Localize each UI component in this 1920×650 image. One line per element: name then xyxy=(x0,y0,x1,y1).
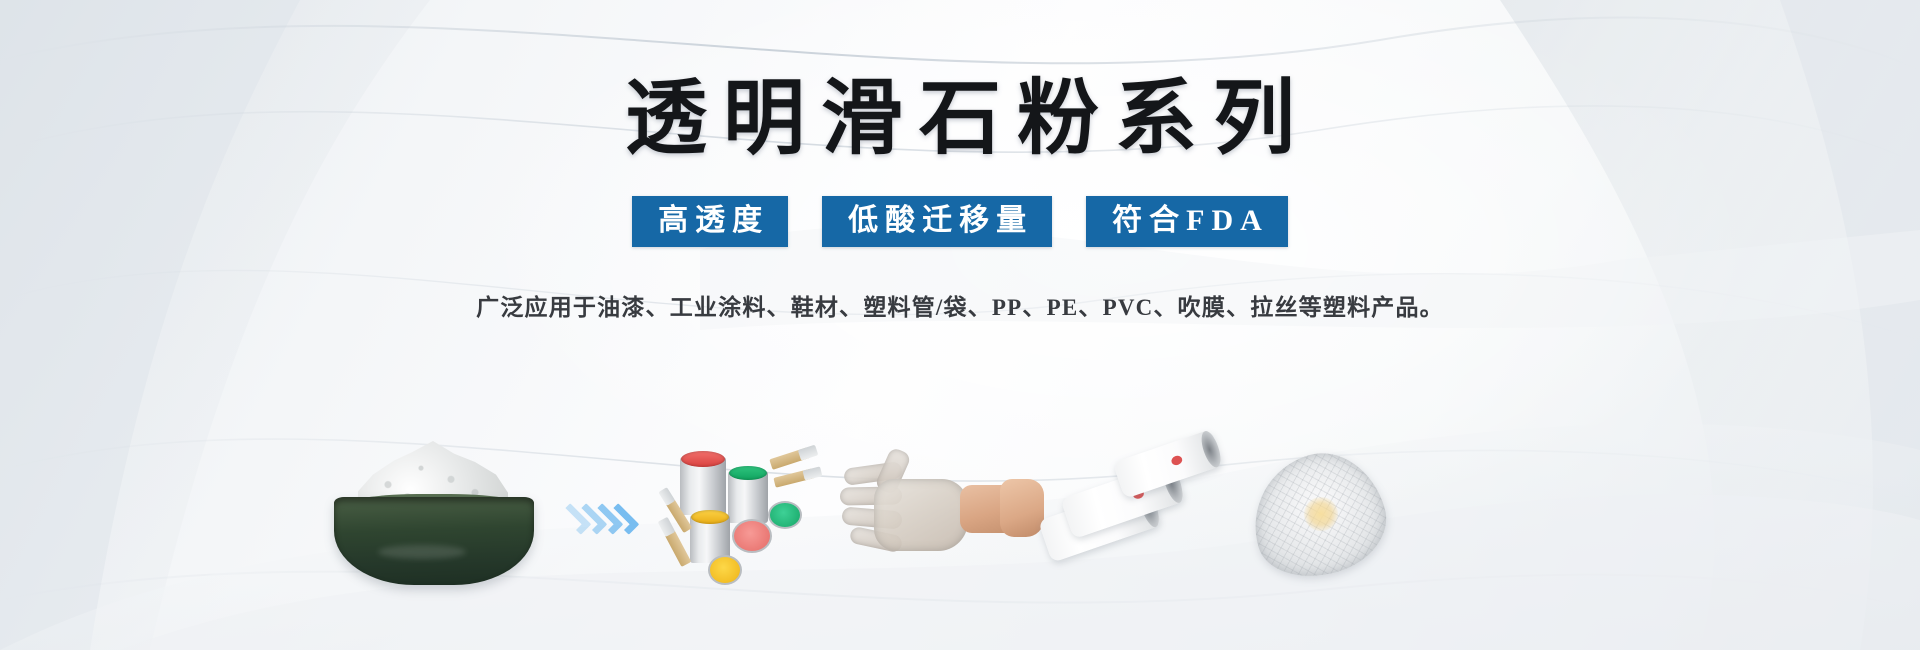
green-bowl xyxy=(334,497,534,585)
glove-palm xyxy=(874,479,968,551)
application-description: 广泛应用于油漆、工业涂料、鞋材、塑料管/袋、PP、PE、PVC、吹膜、拉丝等塑料… xyxy=(0,288,1920,322)
pigment-disc-yellow xyxy=(708,555,742,585)
page-title: 透明滑石粉系列 xyxy=(0,78,1920,160)
brush-bristles xyxy=(798,445,819,461)
paint-surface-red xyxy=(681,451,725,467)
film-rolls-image xyxy=(1038,439,1238,599)
application-image-strip xyxy=(330,434,1600,604)
paint-cans-image xyxy=(658,439,838,599)
pigment-disc-green xyxy=(768,501,802,529)
paint-surface-yellow xyxy=(691,510,729,524)
brush-bristles xyxy=(802,466,822,480)
brush-bristles xyxy=(658,517,676,537)
roll-brand-dot xyxy=(1170,454,1183,466)
insole-highlight xyxy=(1304,497,1338,531)
paint-brush-bottom xyxy=(665,530,692,567)
paint-surface-green xyxy=(729,466,767,480)
talc-powder-bowl-image xyxy=(330,439,540,599)
plastic-glove-hand-image xyxy=(838,439,1038,599)
shoe-insole-image xyxy=(1238,439,1408,599)
banner-content: 透明滑石粉系列 高透度 低酸迁移量 符合FDA 广泛应用于油漆、工业涂料、鞋材、… xyxy=(0,0,1920,322)
product-banner: 透明滑石粉系列 高透度 低酸迁移量 符合FDA 广泛应用于油漆、工业涂料、鞋材、… xyxy=(0,0,1920,650)
badge-fda-compliant: 符合FDA xyxy=(1086,196,1288,247)
paint-brush-middle xyxy=(773,468,814,487)
brush-bristles xyxy=(658,487,675,506)
pigment-disc-pink xyxy=(732,519,772,553)
paint-brush-upper xyxy=(769,447,810,470)
process-arrows-icon xyxy=(540,439,658,599)
roll-end-cap xyxy=(1198,429,1225,470)
feature-badge-list: 高透度 低酸迁移量 符合FDA xyxy=(0,196,1920,247)
badge-low-acid-migration: 低酸迁移量 xyxy=(822,196,1052,247)
badge-high-transparency: 高透度 xyxy=(632,196,788,247)
